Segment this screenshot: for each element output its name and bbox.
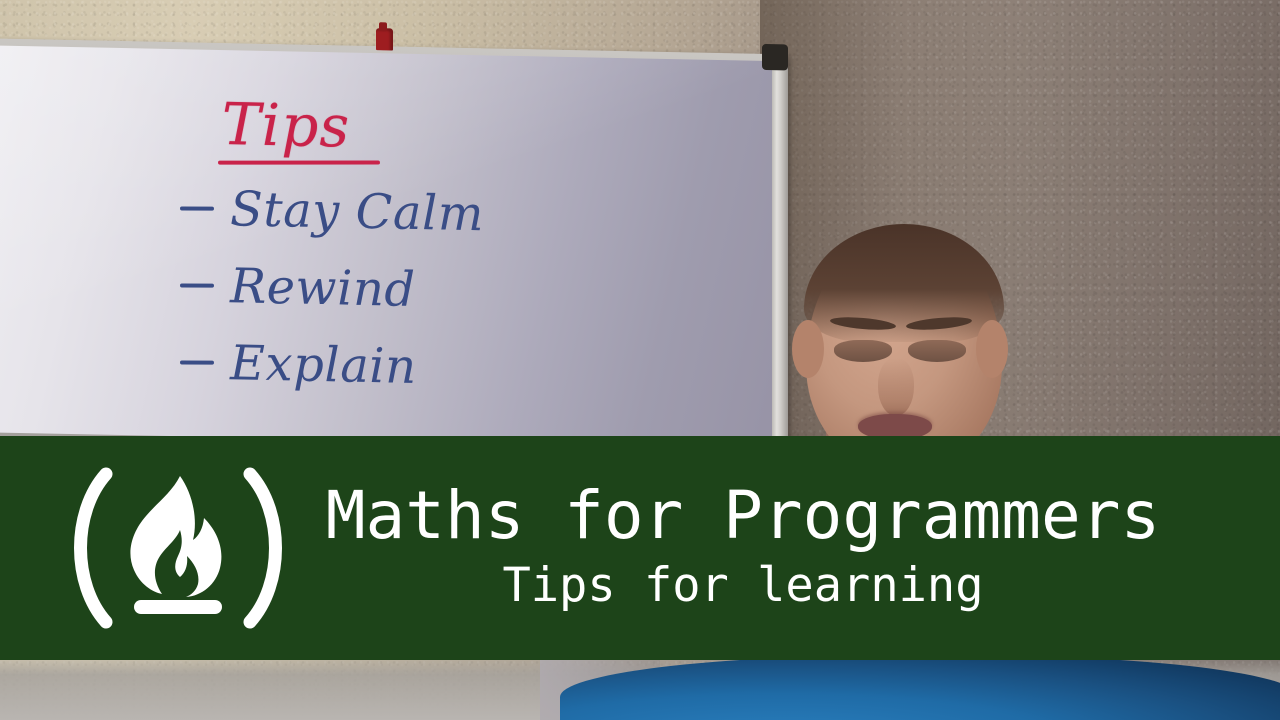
presenter-hair: [804, 224, 1004, 342]
banner-subtitle: Tips for learning: [502, 561, 983, 610]
banner-title: Maths for Programmers: [326, 482, 1160, 549]
presenter-ear-left: [792, 320, 824, 378]
freecodecamp-flame-logo-icon: [62, 460, 294, 636]
presenter-eye-left: [834, 340, 892, 362]
presenter-shirt: [560, 655, 1280, 720]
presenter-ear-right: [976, 320, 1008, 378]
video-frame: Tips Stay Calm Rewind Explain: [0, 0, 1280, 720]
lower-third-banner: Maths for Programmers Tips for learning: [0, 436, 1280, 660]
presenter-nose: [878, 358, 914, 416]
banner-text-block: Maths for Programmers Tips for learning: [294, 482, 1280, 611]
presenter-eye-right: [908, 340, 966, 362]
